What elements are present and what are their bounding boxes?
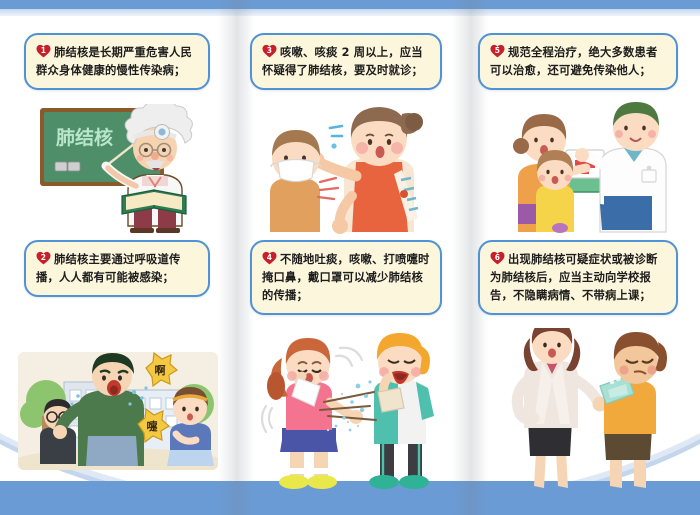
heart-badge-icon: 4 bbox=[262, 251, 277, 265]
callout-body-6: 出现肺结核可疑症状或被诊断为肺结核后，应当主动向学校报告，不隐瞒病情、不带病上课… bbox=[490, 253, 657, 302]
callout-text-2: 2 肺结核主要通过呼吸道传播，人人都有可能被感染； bbox=[36, 251, 198, 287]
callout-text-1: 1 肺结核是长期严重危害人民群众身体健康的慢性传染病； bbox=[36, 44, 198, 80]
callout-text-3: 3 咳嗽、咳痰 2 周以上，应当怀疑得了肺结核，要及时就诊； bbox=[262, 44, 430, 80]
brochure-fold-left bbox=[218, 0, 254, 515]
svg-text:肺结核: 肺结核 bbox=[56, 126, 113, 149]
callout-number-6: 6 bbox=[490, 252, 505, 263]
teacher-and-sick-student-scene bbox=[490, 328, 685, 493]
children-coughing-scene bbox=[258, 330, 453, 490]
callout-body-4: 不随地吐痰，咳嗽、打喷嚏时掩口鼻，戴口罩可以减少肺结核的传播； bbox=[262, 253, 429, 302]
callout-box-4[interactable]: 4 不随地吐痰，咳嗽、打喷嚏时掩口鼻，戴口罩可以减少肺结核的传播； bbox=[250, 240, 442, 315]
bubble-text-a: 啊 bbox=[155, 364, 166, 377]
callout-box-5[interactable]: 5 规范全程治疗，绝大多数患者可以治愈，还可避免传染他人； bbox=[478, 33, 678, 90]
callout-box-1[interactable]: 1 肺结核是长期严重危害人民群众身体健康的慢性传染病； bbox=[24, 33, 210, 90]
heart-badge-icon: 1 bbox=[36, 44, 51, 58]
callout-number-1: 1 bbox=[36, 45, 51, 56]
top-band-highlight bbox=[0, 9, 700, 16]
heart-badge-icon: 2 bbox=[36, 251, 51, 265]
poster-root: 肺结核 bbox=[0, 0, 700, 515]
callout-body-5: 规范全程治疗，绝大多数患者可以治愈，还可避免传染他人； bbox=[490, 46, 657, 77]
teacher-blackboard-scene: 肺结核 bbox=[22, 104, 212, 234]
callout-box-2[interactable]: 2 肺结核主要通过呼吸道传播，人人都有可能被感染； bbox=[24, 240, 210, 297]
bubble-text-b: 嚏 bbox=[147, 419, 159, 433]
callout-text-4: 4 不随地吐痰，咳嗽、打喷嚏时掩口鼻，戴口罩可以减少肺结核的传播； bbox=[262, 251, 430, 305]
callout-body-3: 咳嗽、咳痰 2 周以上，应当怀疑得了肺结核，要及时就诊； bbox=[262, 46, 423, 77]
callout-box-3[interactable]: 3 咳嗽、咳痰 2 周以上，应当怀疑得了肺结核，要及时就诊； bbox=[250, 33, 442, 90]
heart-badge-icon: 5 bbox=[490, 44, 505, 58]
callout-number-3: 3 bbox=[262, 45, 277, 56]
heart-badge-icon: 6 bbox=[490, 251, 505, 265]
mother-and-masked-child-scene bbox=[252, 100, 447, 235]
heart-badge-icon: 3 bbox=[262, 44, 277, 58]
street-sneeze-scene: 啊 嚏 bbox=[18, 352, 218, 470]
doctor-consultation-scene bbox=[474, 100, 679, 235]
callout-box-6[interactable]: 6 出现肺结核可疑症状或被诊断为肺结核后，应当主动向学校报告，不隐瞒病情、不带病… bbox=[478, 240, 678, 315]
callout-text-5: 5 规范全程治疗，绝大多数患者可以治愈，还可避免传染他人； bbox=[490, 44, 666, 80]
callout-number-5: 5 bbox=[490, 45, 505, 56]
callout-text-6: 6 出现肺结核可疑症状或被诊断为肺结核后，应当主动向学校报告，不隐瞒病情、不带病… bbox=[490, 251, 666, 305]
callout-body-2: 肺结核主要通过呼吸道传播，人人都有可能被感染； bbox=[36, 253, 180, 284]
callout-number-4: 4 bbox=[262, 252, 277, 263]
callout-body-1: 肺结核是长期严重危害人民群众身体健康的慢性传染病； bbox=[36, 46, 192, 77]
callout-number-2: 2 bbox=[36, 252, 51, 263]
